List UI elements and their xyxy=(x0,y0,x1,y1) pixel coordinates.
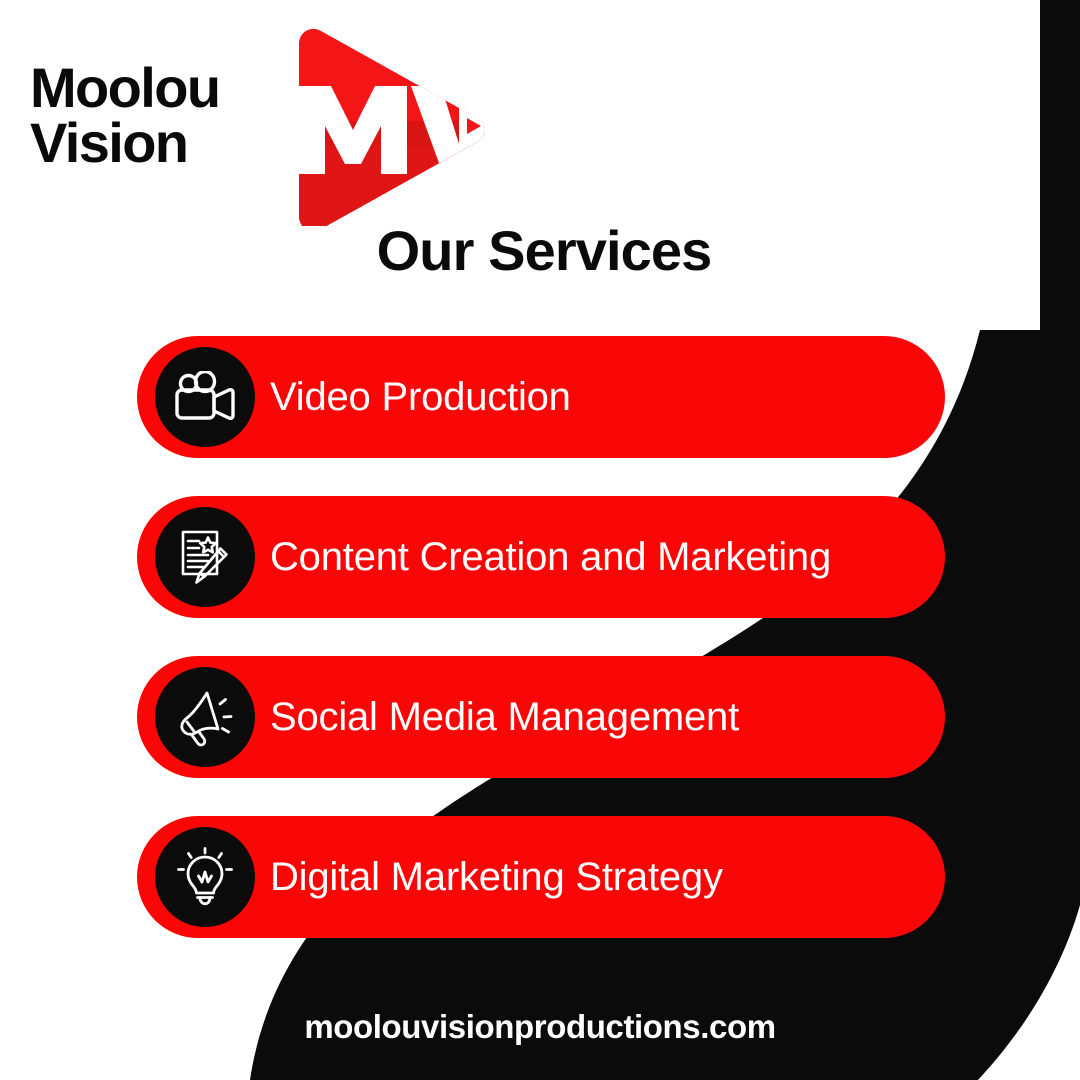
document-pencil-icon xyxy=(155,507,255,607)
service-label: Content Creation and Marketing xyxy=(270,535,831,580)
service-label: Video Production xyxy=(270,375,571,420)
service-label: Digital Marketing Strategy xyxy=(270,855,723,900)
service-item-video-production[interactable]: Video Production xyxy=(137,336,945,458)
service-item-digital-marketing-strategy[interactable]: Digital Marketing Strategy xyxy=(137,816,945,938)
service-item-social-media-management[interactable]: Social Media Management xyxy=(137,656,945,778)
services-poster: Moolou Vision xyxy=(0,0,1080,1080)
footer-website-url[interactable]: moolouvisionproductions.com xyxy=(0,1008,1080,1046)
service-item-content-creation-and-marketing[interactable]: Content Creation and Marketing xyxy=(137,496,945,618)
video-camera-icon xyxy=(155,347,255,447)
service-list: Video Production Content Creation and Ma… xyxy=(0,0,1080,1080)
lightbulb-icon xyxy=(155,827,255,927)
service-label: Social Media Management xyxy=(270,695,739,740)
megaphone-icon xyxy=(155,667,255,767)
